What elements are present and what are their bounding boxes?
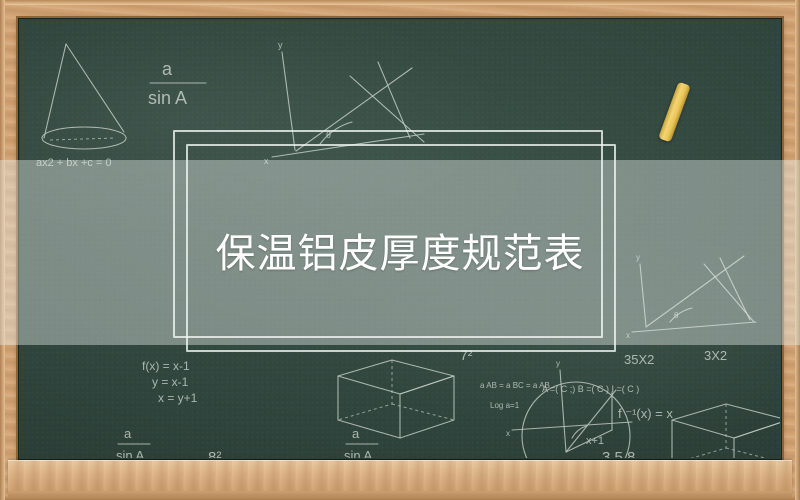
formula-8-squared: 8² <box>208 449 221 458</box>
label-3x2: 3X2 <box>704 348 727 363</box>
svg-text:x = y+1: x = y+1 <box>158 391 198 405</box>
formula-ab-bc: a AB = a BC = a AB <box>480 381 550 390</box>
chalkboard-title-card: a sin A ax2 + bx +c = 0 y x θ <box>0 0 800 500</box>
frame-top-highlight <box>0 0 800 5</box>
svg-text:y: y <box>278 40 283 50</box>
svg-text:sin A: sin A <box>344 448 373 458</box>
arithmetic-addition: x+1 3 5 8 2 7 9 6 3 7 <box>586 435 658 458</box>
cube-wireframe-right <box>672 404 780 458</box>
formula-a-over-sinA-topleft: a sin A <box>148 59 206 108</box>
svg-text:sin A: sin A <box>148 88 187 108</box>
formula-fx-group: f(x) = x-1 y = x-1 x = y+1 <box>142 359 198 405</box>
svg-text:a: a <box>162 59 173 79</box>
svg-text:y = x-1: y = x-1 <box>152 375 189 389</box>
label-brackets: A =( C ;) B =( C ) I =( C ) <box>542 384 639 394</box>
chalk-tray <box>8 460 792 494</box>
label-35x2: 35X2 <box>624 352 654 367</box>
svg-text:f(x) = x-1: f(x) = x-1 <box>142 359 190 373</box>
cone-diagram <box>42 44 126 149</box>
svg-text:3 5 8: 3 5 8 <box>602 449 635 458</box>
formula-f-inverse: f ⁻¹(x) = x <box>618 406 673 421</box>
circle-axes-diagram: y x <box>506 359 632 458</box>
svg-text:x: x <box>626 331 630 340</box>
label-log-a1: Log a=1 <box>490 401 520 410</box>
formula-quadratic: ax2 + bx +c = 0 <box>36 157 112 169</box>
formula-a-over-sinA-center: a sin A <box>344 426 378 458</box>
svg-text:x: x <box>506 429 510 438</box>
svg-text:θ: θ <box>674 311 679 320</box>
chalk-tray-lip <box>8 491 792 498</box>
svg-text:x+1: x+1 <box>586 435 604 447</box>
formula-a-over-sinA-bottomleft: a sin A <box>116 426 150 458</box>
page-title: 保温铝皮厚度规范表 <box>0 228 800 280</box>
svg-text:sin A: sin A <box>116 448 145 458</box>
svg-text:a: a <box>352 426 360 441</box>
svg-text:a: a <box>124 426 132 441</box>
svg-text:y: y <box>556 359 560 368</box>
